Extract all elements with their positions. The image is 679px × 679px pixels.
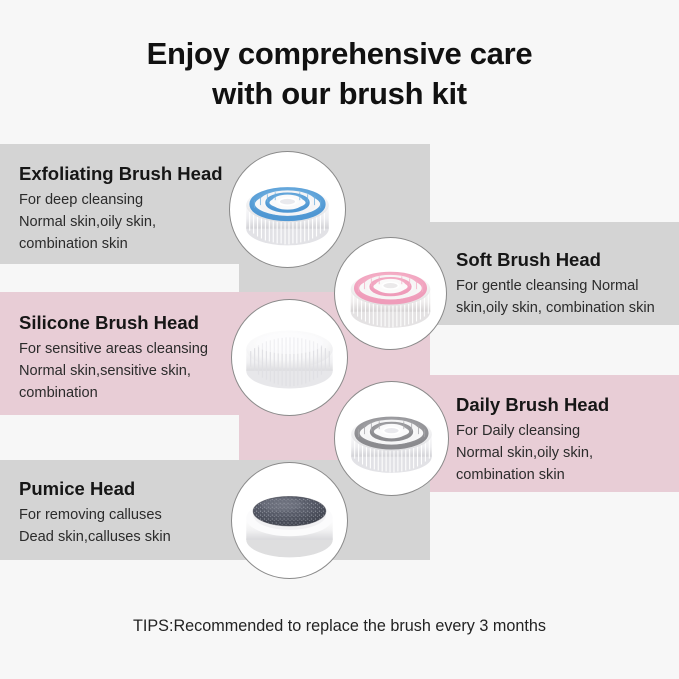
item-desc-line: For deep cleansing — [19, 189, 223, 211]
item-desc-line: combination — [19, 382, 208, 404]
footer-tip: TIPS:Recommended to replace the brush ev… — [0, 617, 679, 636]
item-text-exfoliating: Exfoliating Brush Head For deep cleansin… — [19, 163, 223, 255]
item-text-daily: Daily Brush Head For Daily cleansing Nor… — [456, 394, 609, 486]
infographic-page: Enjoy comprehensive care with our brush … — [0, 0, 679, 679]
item-text-pumice: Pumice Head For removing calluses Dead s… — [19, 478, 171, 548]
item-title-exfoliating: Exfoliating Brush Head — [19, 163, 223, 186]
item-desc-line: For Daily cleansing — [456, 420, 609, 442]
item-desc-line: For gentle cleansing Normal — [456, 275, 655, 297]
item-title-daily: Daily Brush Head — [456, 394, 609, 417]
item-title-soft: Soft Brush Head — [456, 249, 655, 272]
exfoliating-brush-head-image — [229, 151, 346, 268]
item-desc-line: combination skin — [19, 233, 223, 255]
daily-brush-head-image — [334, 381, 449, 496]
pumice-head-icon — [232, 463, 347, 578]
item-desc-line: combination skin — [456, 464, 609, 486]
item-text-soft: Soft Brush Head For gentle cleansing Nor… — [456, 249, 655, 319]
item-title-silicone: Silicone Brush Head — [19, 312, 208, 335]
item-desc-line: skin,oily skin, combination skin — [456, 297, 655, 319]
exfoliating-brush-head-icon — [230, 152, 345, 267]
silicone-brush-head-image — [231, 299, 348, 416]
item-title-pumice: Pumice Head — [19, 478, 171, 501]
page-title-line-1: Enjoy comprehensive care — [0, 34, 679, 74]
item-desc-line: For removing calluses — [19, 504, 171, 526]
item-desc-line: Normal skin,oily skin, — [456, 442, 609, 464]
soft-brush-head-icon — [335, 238, 446, 349]
pumice-head-image — [231, 462, 348, 579]
item-text-silicone: Silicone Brush Head For sensitive areas … — [19, 312, 208, 404]
page-title-line-2: with our brush kit — [0, 74, 679, 114]
soft-brush-head-image — [334, 237, 447, 350]
item-desc-line: Dead skin,calluses skin — [19, 526, 171, 548]
item-desc-line: Normal skin,oily skin, — [19, 211, 223, 233]
item-desc-line: Normal skin,sensitive skin, — [19, 360, 208, 382]
item-desc-line: For sensitive areas cleansing — [19, 338, 208, 360]
page-title: Enjoy comprehensive care with our brush … — [0, 34, 679, 113]
silicone-brush-head-icon — [232, 300, 347, 415]
daily-brush-head-icon — [335, 382, 448, 495]
